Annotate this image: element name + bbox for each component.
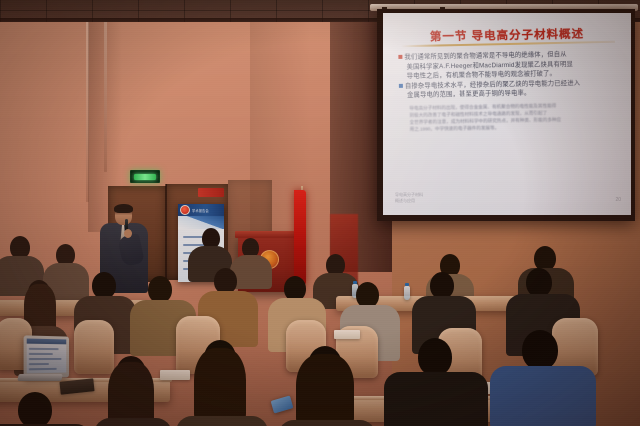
notebook bbox=[334, 330, 360, 339]
laptop-titlebar bbox=[27, 339, 67, 345]
laptop-content-line bbox=[29, 368, 57, 370]
presenter-hair bbox=[114, 204, 133, 213]
laptop-content-line bbox=[29, 363, 49, 365]
laptop-content-line bbox=[29, 353, 53, 355]
slide-small-paragraph: 导电高分子材料的出现，使得合金金属、有机聚合物的电性能及其性能得 到极大的改善了… bbox=[393, 100, 623, 132]
door-split bbox=[165, 184, 167, 282]
lecture-hall-photo: 第一节 导电高分子材料概述 我们通常所见到的聚合物通常是不导电的绝缘体，但自从 … bbox=[0, 0, 640, 426]
head bbox=[522, 330, 558, 370]
head bbox=[418, 338, 452, 376]
head bbox=[92, 272, 116, 299]
long-hair bbox=[296, 354, 354, 426]
banner-header: 学术报告会 bbox=[178, 204, 224, 216]
water-bottle bbox=[404, 286, 410, 300]
bullet-marker-icon bbox=[398, 55, 402, 59]
slide-body: 我们通常所见到的聚合物通常是不导电的绝缘体，但自从 美国科学家A.F.Heege… bbox=[392, 49, 623, 133]
notebook bbox=[160, 370, 190, 380]
exit-sign bbox=[130, 170, 160, 183]
chinese-national-flag bbox=[294, 190, 306, 286]
chair[interactable] bbox=[74, 320, 114, 374]
banner-wave-graphic bbox=[178, 216, 224, 229]
bullet-marker-icon-blue bbox=[399, 84, 403, 88]
slide-footer: 导电高分子材料 概述与应用 bbox=[395, 192, 423, 203]
slide-footer-line-1: 导电高分子材料 bbox=[395, 192, 423, 198]
banner-logo-icon bbox=[180, 205, 190, 215]
head bbox=[430, 272, 454, 299]
shoulders bbox=[490, 366, 596, 426]
laptop-content-line bbox=[29, 358, 62, 360]
long-hair bbox=[194, 348, 246, 426]
laptop-content-line bbox=[29, 348, 59, 350]
open-laptop[interactable] bbox=[24, 335, 69, 378]
podium-sign bbox=[198, 188, 224, 197]
banner-header-text: 学术报告会 bbox=[192, 208, 209, 213]
bottle-cap bbox=[353, 281, 357, 284]
head bbox=[18, 392, 52, 426]
bottle-cap bbox=[405, 283, 409, 286]
shoulders bbox=[176, 416, 268, 426]
shoulders bbox=[94, 418, 172, 426]
slide-page-number: 20 bbox=[615, 197, 621, 203]
shoulders bbox=[384, 372, 488, 426]
presenter-hand bbox=[124, 229, 132, 238]
shoulders bbox=[278, 420, 376, 426]
projection-screen: 第一节 导电高分子材料概述 我们通常所见到的聚合物通常是不导电的绝缘体，但自从 … bbox=[383, 13, 631, 215]
laptop-screen bbox=[27, 339, 67, 374]
long-hair bbox=[108, 362, 154, 426]
laptop-keyboard[interactable] bbox=[17, 374, 62, 381]
exit-sign-icon bbox=[134, 174, 156, 180]
podium-top bbox=[235, 231, 303, 238]
head bbox=[148, 276, 172, 303]
slide-footer-line-2: 概述与应用 bbox=[395, 198, 423, 204]
head bbox=[526, 268, 552, 297]
